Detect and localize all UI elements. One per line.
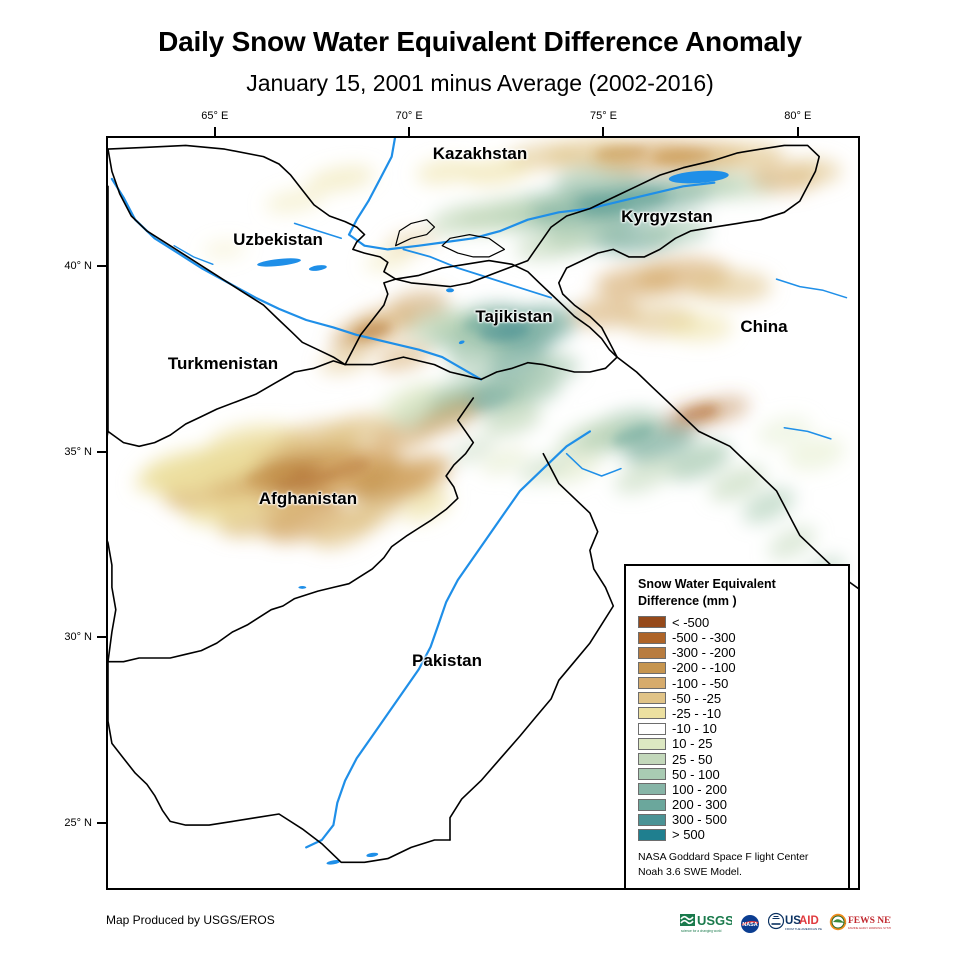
- legend-footer: NASA Goddard Space F light Center Noah 3…: [638, 850, 838, 880]
- legend-swatch: [638, 753, 666, 765]
- border-pk-in: [450, 454, 613, 840]
- usaid-logo: USAIDFROM THE AMERICAN PEOPLE: [768, 911, 822, 937]
- legend-row: 50 - 100: [638, 767, 838, 782]
- lon-tick-label: 80° E: [784, 110, 811, 122]
- lake-hamun: [298, 586, 306, 589]
- legend-swatch: [638, 616, 666, 628]
- legend-label: -200 - -100: [672, 661, 736, 674]
- lat-tick-label: 25° N: [64, 817, 92, 829]
- nasa-logo: NASA: [739, 911, 761, 937]
- legend-swatch: [638, 707, 666, 719]
- legend-row: 100 - 200: [638, 782, 838, 797]
- svg-text:science for a changing world: science for a changing world: [681, 929, 722, 933]
- fewsnet-logo: FEWS NETFAMINE EARLY WARNING SYSTEMS NET…: [829, 911, 891, 937]
- country-label-kyrgyzstan: Kyrgyzstan: [621, 207, 713, 227]
- legend-row: 25 - 50: [638, 751, 838, 766]
- delta-indus-2: [366, 852, 378, 858]
- lat-tick: [97, 265, 106, 267]
- legend-label: -300 - -200: [672, 646, 736, 659]
- legend-row: -200 - -100: [638, 660, 838, 675]
- svg-text:USGS: USGS: [697, 913, 732, 928]
- svg-text:AID: AID: [799, 915, 819, 927]
- legend-label: 300 - 500: [672, 813, 727, 826]
- legend-swatch: [638, 783, 666, 795]
- legend-swatch: [638, 814, 666, 826]
- lon-tick-label: 70° E: [396, 110, 423, 122]
- svg-text:FEWS NET: FEWS NET: [848, 916, 891, 926]
- legend-swatch: [638, 632, 666, 644]
- legend-swatch: [638, 738, 666, 750]
- legend-label: 10 - 25: [672, 737, 712, 750]
- legend-label: 25 - 50: [672, 753, 712, 766]
- legend-label: -50 - -25: [672, 692, 721, 705]
- legend-label: -500 - -300: [672, 631, 736, 644]
- country-label-china: China: [740, 317, 787, 337]
- lake-kairakkum: [446, 288, 454, 292]
- legend-row: -10 - 10: [638, 721, 838, 736]
- country-label-pakistan: Pakistan: [412, 651, 482, 671]
- legend-label: 200 - 300: [672, 798, 727, 811]
- legend-label: > 500: [672, 828, 705, 841]
- legend-swatch: [638, 677, 666, 689]
- svg-text:NASA: NASA: [742, 922, 757, 928]
- lat-tick-label: 30° N: [64, 631, 92, 643]
- country-label-turkmenistan: Turkmenistan: [168, 354, 278, 374]
- legend-row: 200 - 300: [638, 797, 838, 812]
- svg-text:FROM THE AMERICAN PEOPLE: FROM THE AMERICAN PEOPLE: [785, 927, 822, 931]
- lat-tick: [97, 822, 106, 824]
- legend-label: 100 - 200: [672, 783, 727, 796]
- svg-text:FAMINE EARLY WARNING SYSTEMS N: FAMINE EARLY WARNING SYSTEMS NETWORK: [848, 926, 891, 930]
- legend-row: -500 - -300: [638, 630, 838, 645]
- lat-tick-label: 35° N: [64, 446, 92, 458]
- legend-row: 10 - 25: [638, 736, 838, 751]
- legend-row: 300 - 500: [638, 812, 838, 827]
- lon-tick: [797, 127, 799, 136]
- legend-row: -300 - -200: [638, 645, 838, 660]
- legend-swatch: [638, 662, 666, 674]
- legend-footer-line1: NASA Goddard Space F light Center: [638, 850, 838, 865]
- lake-aydar-2: [309, 264, 328, 272]
- lon-tick-label: 65° E: [201, 110, 228, 122]
- lat-tick: [97, 636, 106, 638]
- page-subtitle: January 15, 2001 minus Average (2002-201…: [0, 70, 960, 97]
- border-pk-south: [108, 662, 450, 863]
- legend-title-line2: Difference (mm ): [638, 593, 838, 610]
- legend-label: -100 - -50: [672, 677, 728, 690]
- river-tarim: [777, 279, 847, 298]
- lon-tick: [214, 127, 216, 136]
- legend-row: -25 - -10: [638, 706, 838, 721]
- border-af-ir: [108, 431, 116, 661]
- lat-tick-label: 40° N: [64, 260, 92, 272]
- country-label-kazakhstan: Kazakhstan: [433, 144, 527, 164]
- map-credit: Map Produced by USGS/EROS: [106, 913, 275, 927]
- country-label-tajikistan: Tajikistan: [475, 307, 552, 327]
- map-legend: Snow Water Equivalent Difference (mm ) <…: [624, 564, 850, 890]
- legend-swatch: [638, 723, 666, 735]
- legend-row: > 500: [638, 827, 838, 842]
- legend-label: -25 - -10: [672, 707, 721, 720]
- agency-logos: USGSscience for a changing worldNASAUSAI…: [680, 909, 891, 939]
- legend-swatch: [638, 692, 666, 704]
- country-label-uzbekistan: Uzbekistan: [233, 230, 323, 250]
- page-title: Daily Snow Water Equivalent Difference A…: [0, 26, 960, 58]
- legend-label: 50 - 100: [672, 768, 720, 781]
- lon-tick: [602, 127, 604, 136]
- legend-class-list: < -500-500 - -300-300 - -200-200 - -100-…: [638, 615, 838, 843]
- legend-swatch: [638, 768, 666, 780]
- country-label-afghanistan: Afghanistan: [259, 489, 357, 509]
- legend-row: -100 - -50: [638, 676, 838, 691]
- legend-title-line1: Snow Water Equivalent: [638, 576, 838, 593]
- usgs-logo: USGSscience for a changing world: [680, 911, 732, 937]
- lon-tick-label: 75° E: [590, 110, 617, 122]
- legend-label: < -500: [672, 616, 709, 629]
- legend-swatch: [638, 799, 666, 811]
- legend-footer-line2: Noah 3.6 SWE Model.: [638, 865, 838, 880]
- legend-row: < -500: [638, 615, 838, 630]
- lat-tick: [97, 451, 106, 453]
- legend-row: -50 - -25: [638, 691, 838, 706]
- legend-swatch: [638, 829, 666, 841]
- legend-title: Snow Water Equivalent Difference (mm ): [638, 576, 838, 610]
- map-frame[interactable]: KazakhstanKyrgyzstanUzbekistanTajikistan…: [106, 136, 860, 890]
- lake-aydar: [257, 257, 301, 269]
- legend-label: -10 - 10: [672, 722, 717, 735]
- lon-tick: [408, 127, 410, 136]
- legend-swatch: [638, 647, 666, 659]
